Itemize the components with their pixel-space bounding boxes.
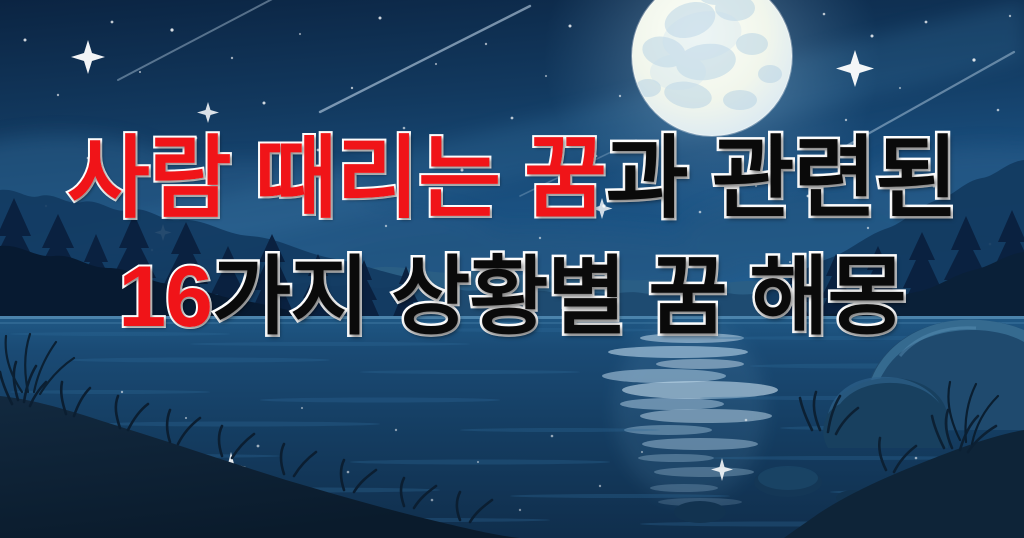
night-lake-illustration	[0, 0, 1024, 538]
rock-small-2	[674, 501, 726, 523]
banner-image: 사람 때리는 꿈 과 관련된 16 가지 상황별 꿈 해몽	[0, 0, 1024, 538]
